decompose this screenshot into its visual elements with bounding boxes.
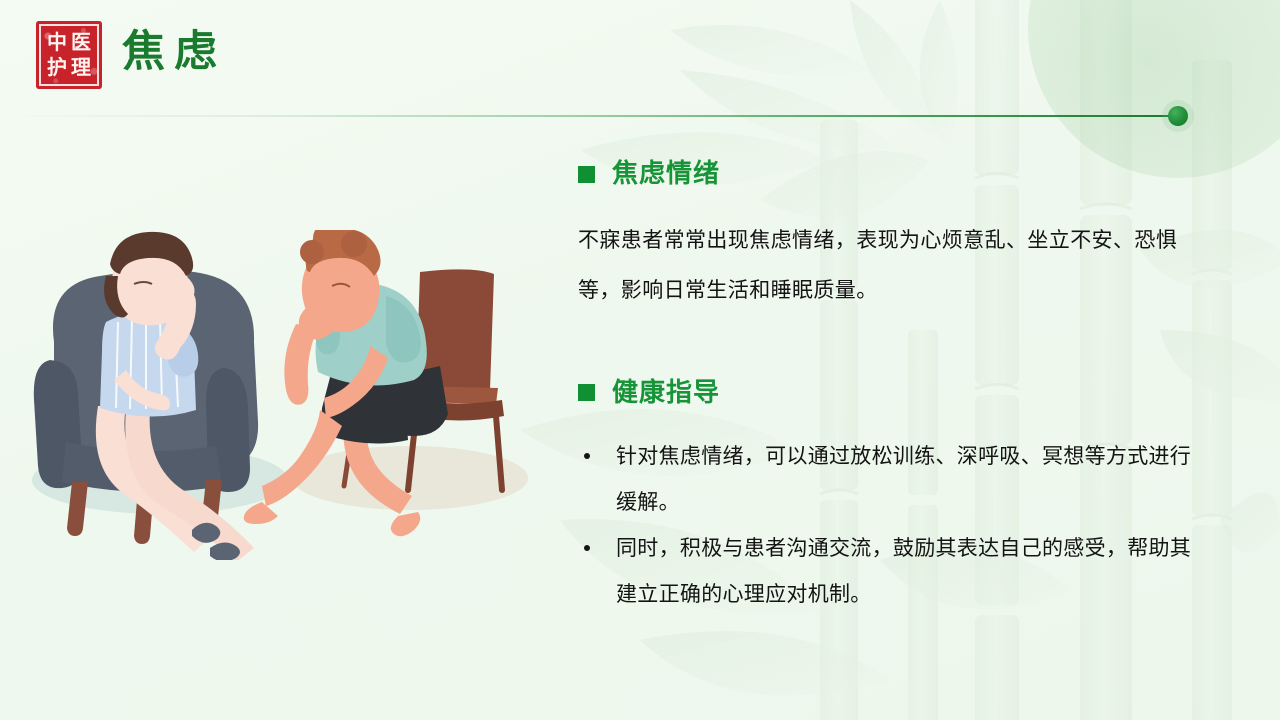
slide: 中 医 护 理 焦虑 <box>0 0 1280 720</box>
list-item-text: 同时，积极与患者沟通交流，鼓励其表达自己的感受，帮助其建立正确的心理应对机制。 <box>616 536 1191 606</box>
header-divider <box>0 115 1175 117</box>
green-square-bullet-icon <box>578 166 595 183</box>
list-bullet-dot-icon <box>584 545 590 551</box>
seal-char-1: 中 <box>47 33 67 53</box>
section-title: 健康指导 <box>612 379 720 408</box>
list-item-text: 针对焦虑情绪，可以通过放松训练、深呼吸、冥想等方式进行缓解。 <box>616 444 1191 514</box>
illustration-group <box>10 230 555 560</box>
divider-end-dot-icon <box>1168 106 1188 126</box>
section-anxiety-emotion: 焦虑情绪 不寐患者常常出现焦虑情绪，表现为心烦意乱、坐立不安、恐惧等，影响日常生… <box>578 160 1218 315</box>
list-item: 同时，积极与患者沟通交流，鼓励其表达自己的感受，帮助其建立正确的心理应对机制。 <box>578 525 1198 617</box>
section-header: 健康指导 <box>578 379 1218 408</box>
green-square-bullet-icon <box>578 384 595 401</box>
seal-char-3: 护 <box>47 58 67 78</box>
section-title: 焦虑情绪 <box>612 160 720 189</box>
content-column: 焦虑情绪 不寐患者常常出现焦虑情绪，表现为心烦意乱、坐立不安、恐惧等，影响日常生… <box>578 160 1218 617</box>
list-bullet-dot-icon <box>584 453 590 459</box>
slide-header: 中 医 护 理 焦虑 <box>0 0 1280 118</box>
guidance-bullet-list: 针对焦虑情绪，可以通过放松训练、深呼吸、冥想等方式进行缓解。 同时，积极与患者沟… <box>578 433 1198 617</box>
list-item: 针对焦虑情绪，可以通过放松训练、深呼吸、冥想等方式进行缓解。 <box>578 433 1198 525</box>
anxiety-illustrations <box>10 230 555 560</box>
seal-char-2: 医 <box>71 33 91 53</box>
woman-in-armchair-illustration <box>34 232 258 560</box>
seal-char-4: 理 <box>71 58 91 78</box>
page-title: 焦虑 <box>122 22 226 84</box>
section-header: 焦虑情绪 <box>578 160 1218 189</box>
section-paragraph: 不寐患者常常出现焦虑情绪，表现为心烦意乱、坐立不安、恐惧等，影响日常生活和睡眠质… <box>578 215 1200 315</box>
section-health-guidance: 健康指导 针对焦虑情绪，可以通过放松训练、深呼吸、冥想等方式进行缓解。 同时，积… <box>578 379 1218 618</box>
tcm-nursing-seal-icon: 中 医 护 理 <box>36 21 102 89</box>
